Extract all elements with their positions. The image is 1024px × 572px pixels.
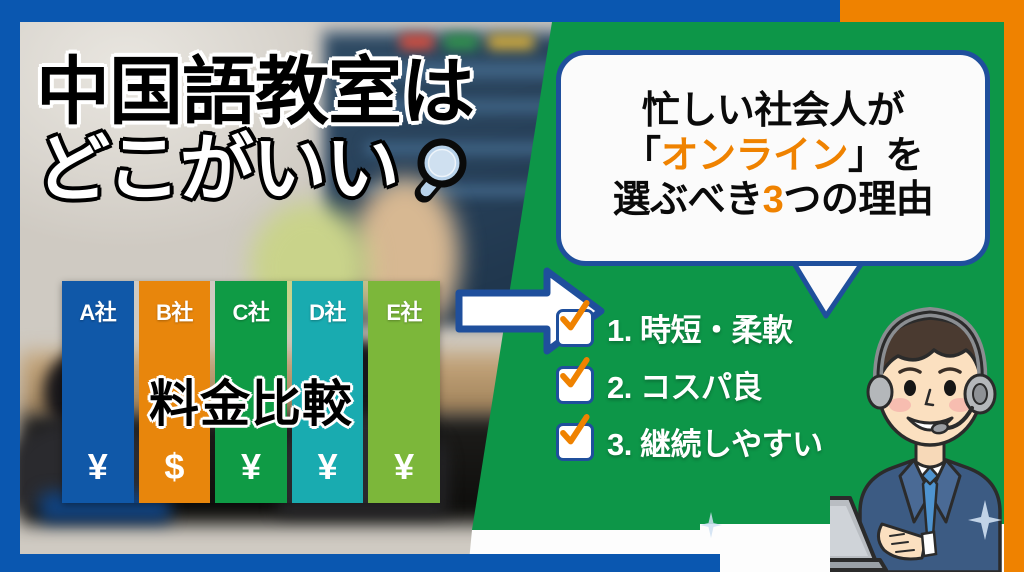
photo-screen-chip: [488, 34, 534, 50]
comparison-column: E社 ¥: [368, 281, 440, 503]
speech-bubble: 忙しい社会人が 「オンライン」を 選ぶべき3つの理由: [556, 50, 990, 266]
column-label: D社: [309, 295, 346, 327]
column-label: E社: [386, 295, 422, 327]
bubble-line-1: 忙しい社会人が: [642, 90, 905, 133]
left-headline: 中国語教室は どこがいい: [36, 56, 483, 207]
top-border-blue: [0, 0, 840, 22]
headline-line-2: どこがいい: [36, 133, 399, 206]
bottom-border-blue: [0, 554, 720, 572]
bubble-line3-accent: 3: [763, 179, 784, 221]
headline-line-1: 中国語教室は: [36, 56, 483, 129]
bubble-line3-post: つの理由: [783, 179, 933, 221]
comparison-column: B社 $: [139, 281, 211, 503]
column-currency: ¥: [241, 449, 261, 485]
thumbnail-canvas: 中国語教室は どこがいい A社 ¥ B社 $: [0, 0, 1024, 572]
price-comparison-bars: A社 ¥ B社 $ C社 ¥ D社 ¥ E社 ¥: [62, 281, 440, 503]
photo-screen-chip: [400, 34, 434, 50]
column-currency: $: [164, 449, 184, 485]
top-border-orange: [840, 0, 1024, 22]
checklist-label: 2. コスパ良: [607, 362, 762, 407]
bubble-line2-accent: オンライン: [660, 135, 848, 177]
right-border-orange: [1004, 0, 1024, 572]
column-currency: ¥: [88, 449, 108, 485]
bubble-line-2: 「オンライン」を: [623, 135, 923, 178]
comparison-column: C社 ¥: [215, 281, 287, 503]
column-currency: ¥: [318, 449, 338, 485]
sparkle-icon: [700, 512, 722, 543]
column-label: A社: [79, 295, 116, 327]
bubble-line2-post: 」を: [848, 135, 923, 177]
bubble-line-3: 選ぶべき3つの理由: [613, 179, 934, 222]
magnifying-glass-icon: [409, 133, 483, 207]
benefits-checklist: 1. 時短・柔軟 2. コスパ良 3. 継続しやすい: [556, 305, 823, 464]
checkmark-icon[interactable]: [556, 423, 594, 461]
bubble-line3-pre: 選ぶべき: [613, 179, 763, 221]
bubble-line2-pre: 「: [623, 135, 661, 177]
column-currency: ¥: [394, 449, 414, 485]
column-label: C社: [233, 295, 270, 327]
checkmark-icon[interactable]: [556, 366, 594, 404]
column-label: B社: [156, 295, 193, 327]
checklist-item: 3. 継続しやすい: [556, 419, 823, 464]
comparison-column: A社 ¥: [62, 281, 134, 503]
photo-screen-chip: [444, 34, 478, 50]
checklist-item: 2. コスパ良: [556, 362, 823, 407]
checklist-label: 3. 継続しやすい: [607, 419, 823, 464]
checkmark-icon[interactable]: [556, 309, 594, 347]
sparkle-icon: [968, 500, 1002, 545]
checklist-item: 1. 時短・柔軟: [556, 305, 823, 350]
checklist-label: 1. 時短・柔軟: [607, 305, 792, 350]
comparison-column: D社 ¥: [292, 281, 364, 503]
left-border-blue: [0, 0, 20, 572]
